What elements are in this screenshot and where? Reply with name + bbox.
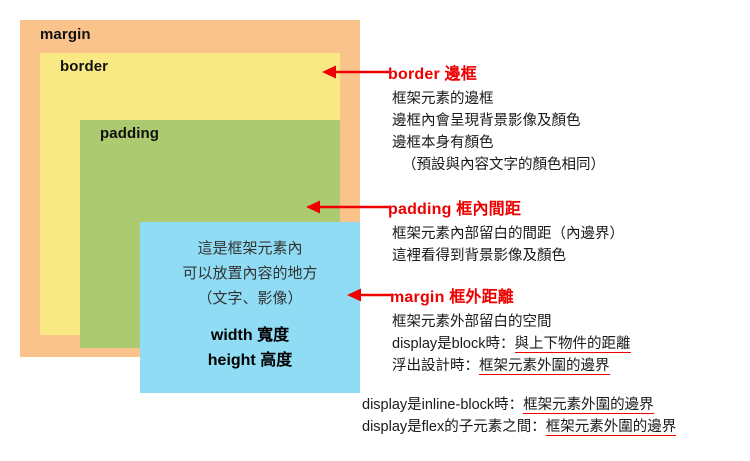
content-dimension-text: width 寬度 height 高度 [140, 323, 360, 373]
content-layer: 這是框架元素內 可以放置內容的地方 （文字、影像） width 寬度 heigh… [140, 222, 360, 393]
annotation-line: 框架元素外部留白的空間 [392, 311, 631, 333]
arrow-to-padding-icon [302, 196, 390, 218]
annotation-line: 邊框本身有顏色 [392, 132, 605, 154]
content-line: （文字、影像） [140, 286, 360, 311]
arrow-to-margin-icon [344, 284, 392, 306]
content-description-text: 這是框架元素內 可以放置內容的地方 （文字、影像） [140, 236, 360, 311]
annotation-line: 邊框內會呈現背景影像及顏色 [392, 110, 605, 132]
margin-extra-notes: display是inline-block時：框架元素外圍的邊界 display是… [362, 394, 676, 438]
content-line: 這是框架元素內 [140, 236, 360, 261]
margin-annotation-body: 框架元素外部留白的空間 display是block時：與上下物件的距離 浮出設計… [392, 311, 631, 377]
annotation-line: display是inline-block時：框架元素外圍的邊界 [362, 394, 676, 416]
height-label: height 高度 [140, 348, 360, 373]
content-line: 可以放置內容的地方 [140, 261, 360, 286]
annotation-line: （預設與內容文字的顏色相同） [392, 154, 605, 176]
annotation-line: 浮出設計時：框架元素外圍的邊界 [392, 355, 631, 377]
border-layer: border padding 這是框架元素內 可以放置內容的地方 （文字、影像）… [40, 53, 340, 335]
padding-annotation-body: 框架元素內部留白的間距（內邊界） 這裡看得到背景影像及顏色 [392, 223, 624, 267]
padding-layer-label: padding [100, 125, 159, 142]
margin-layer-label: margin [40, 26, 91, 43]
css-box-model-diagram: margin border padding 這是框架元素內 可以放置內容的地方 … [20, 20, 360, 357]
margin-annotation-heading: margin 框外距離 [390, 283, 514, 307]
border-annotation-body: 框架元素的邊框 邊框內會呈現背景影像及顏色 邊框本身有顏色 （預設與內容文字的顏… [392, 88, 605, 176]
width-label: width 寬度 [140, 323, 360, 348]
margin-layer: margin border padding 這是框架元素內 可以放置內容的地方 … [20, 20, 360, 357]
annotation-line: 這裡看得到背景影像及顏色 [392, 245, 624, 267]
arrow-to-border-icon [318, 61, 390, 83]
border-annotation-heading: border 邊框 [388, 60, 477, 84]
annotation-line: 框架元素的邊框 [392, 88, 605, 110]
padding-layer: padding 這是框架元素內 可以放置內容的地方 （文字、影像） width … [80, 120, 340, 348]
padding-annotation-heading: padding 框內間距 [388, 195, 521, 219]
annotation-line: display是flex的子元素之間：框架元素外圍的邊界 [362, 416, 676, 438]
border-layer-label: border [60, 58, 108, 75]
annotation-line: display是block時：與上下物件的距離 [392, 333, 631, 355]
annotation-line: 框架元素內部留白的間距（內邊界） [392, 223, 624, 245]
